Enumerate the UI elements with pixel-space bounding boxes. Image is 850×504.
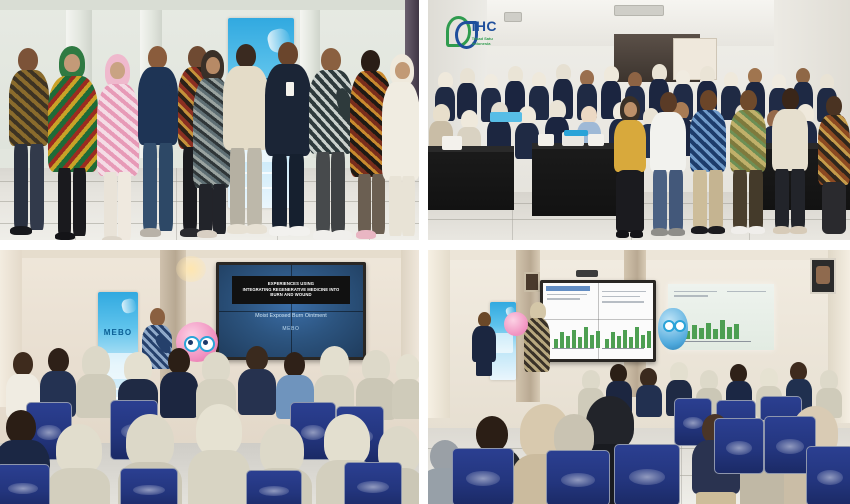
- bar: [692, 325, 697, 340]
- bar: [617, 336, 621, 349]
- equipment-box: [588, 134, 604, 146]
- ihc-logo-text: IHC: [472, 17, 502, 35]
- blue-tray: [490, 112, 522, 122]
- slide-title-line1: EXPERIENCES USING: [268, 282, 314, 286]
- bar: [647, 331, 651, 348]
- bar: [578, 337, 582, 348]
- photo-bottom-left: EXPERIENCES USING INTEGRATING REGENERATI…: [0, 250, 419, 504]
- bar: [572, 330, 576, 348]
- bar: [713, 329, 718, 339]
- banner-brand: MEBO: [101, 323, 135, 342]
- bar: [623, 330, 627, 348]
- person: [136, 46, 180, 240]
- audience-chair: [452, 448, 514, 504]
- photo-top-right: IHC Tekad Satu Indonesia: [428, 0, 850, 240]
- equipment-box: [538, 134, 554, 146]
- slide-bar-chart: [554, 326, 600, 349]
- table-top: [428, 146, 514, 152]
- bar: [590, 335, 594, 349]
- ceiling-vent: [504, 12, 522, 22]
- bar: [699, 328, 704, 340]
- person-front-row: [730, 90, 766, 240]
- bar: [554, 339, 558, 349]
- skirted-table: [428, 148, 514, 210]
- person: [222, 44, 270, 240]
- bar: [641, 335, 645, 349]
- bar: [566, 336, 570, 349]
- audience-chair: [120, 468, 178, 504]
- person-front-row: [650, 92, 686, 240]
- audience-chair: [806, 446, 850, 504]
- bar: [727, 327, 732, 340]
- person-front-row: [818, 96, 850, 240]
- bar: [605, 339, 609, 349]
- person: [308, 48, 354, 240]
- photo-collage: MEBO: [0, 0, 850, 504]
- person-front-row: [772, 88, 808, 240]
- slide-bar-chart: [605, 326, 651, 349]
- ihc-logo-subtext: Tekad Satu Indonesia: [472, 37, 502, 47]
- bar: [635, 327, 639, 348]
- wall-light: [176, 256, 206, 282]
- ceiling-edge: [0, 250, 419, 258]
- ceiling-vent: [614, 5, 664, 16]
- video-wall: [540, 280, 656, 362]
- slide-title-box: EXPERIENCES USING INTEGRATING REGENERATI…: [232, 276, 350, 304]
- framed-portrait: [810, 258, 836, 294]
- audience-chair: [344, 462, 402, 504]
- bar: [584, 327, 588, 348]
- id-badge: [286, 82, 294, 96]
- audience-chair: [0, 464, 50, 504]
- person: [8, 48, 52, 238]
- bar: [611, 332, 615, 348]
- audience-chair: [246, 470, 302, 504]
- slide-title-line3: BURN AND WOUND: [270, 293, 311, 297]
- person: [96, 54, 140, 240]
- bar: [734, 324, 739, 340]
- audience-chair: [546, 450, 610, 504]
- audience-chair: [614, 444, 680, 504]
- bar: [629, 337, 633, 348]
- ceiling-edge: [0, 0, 419, 10]
- ihc-logo: IHC Tekad Satu Indonesia: [446, 14, 502, 48]
- audience-chair: [714, 418, 764, 474]
- blue-tray: [564, 130, 588, 136]
- wall-plaque: [524, 272, 540, 292]
- blue-mascot-balloon: [658, 308, 688, 350]
- slide-subtitle: Moist Exposed Burn Ointment: [226, 313, 356, 319]
- bar: [706, 323, 711, 340]
- equipment-box: [442, 136, 462, 150]
- ceiling-projector: [576, 270, 598, 277]
- bar: [596, 331, 600, 348]
- speaker: [472, 312, 496, 376]
- bar: [560, 332, 564, 348]
- person: [264, 42, 312, 240]
- slide-brand: MEBO: [226, 326, 356, 332]
- slide-bar-chart: [685, 318, 739, 339]
- person: [382, 54, 419, 240]
- photo-top-left: MEBO: [0, 0, 419, 240]
- pink-mascot-balloon: [504, 312, 528, 336]
- photo-bottom-right: [428, 250, 850, 504]
- person-front-row: [690, 90, 726, 240]
- person-front-row: [614, 96, 646, 240]
- bar: [720, 320, 725, 339]
- person: [48, 46, 98, 240]
